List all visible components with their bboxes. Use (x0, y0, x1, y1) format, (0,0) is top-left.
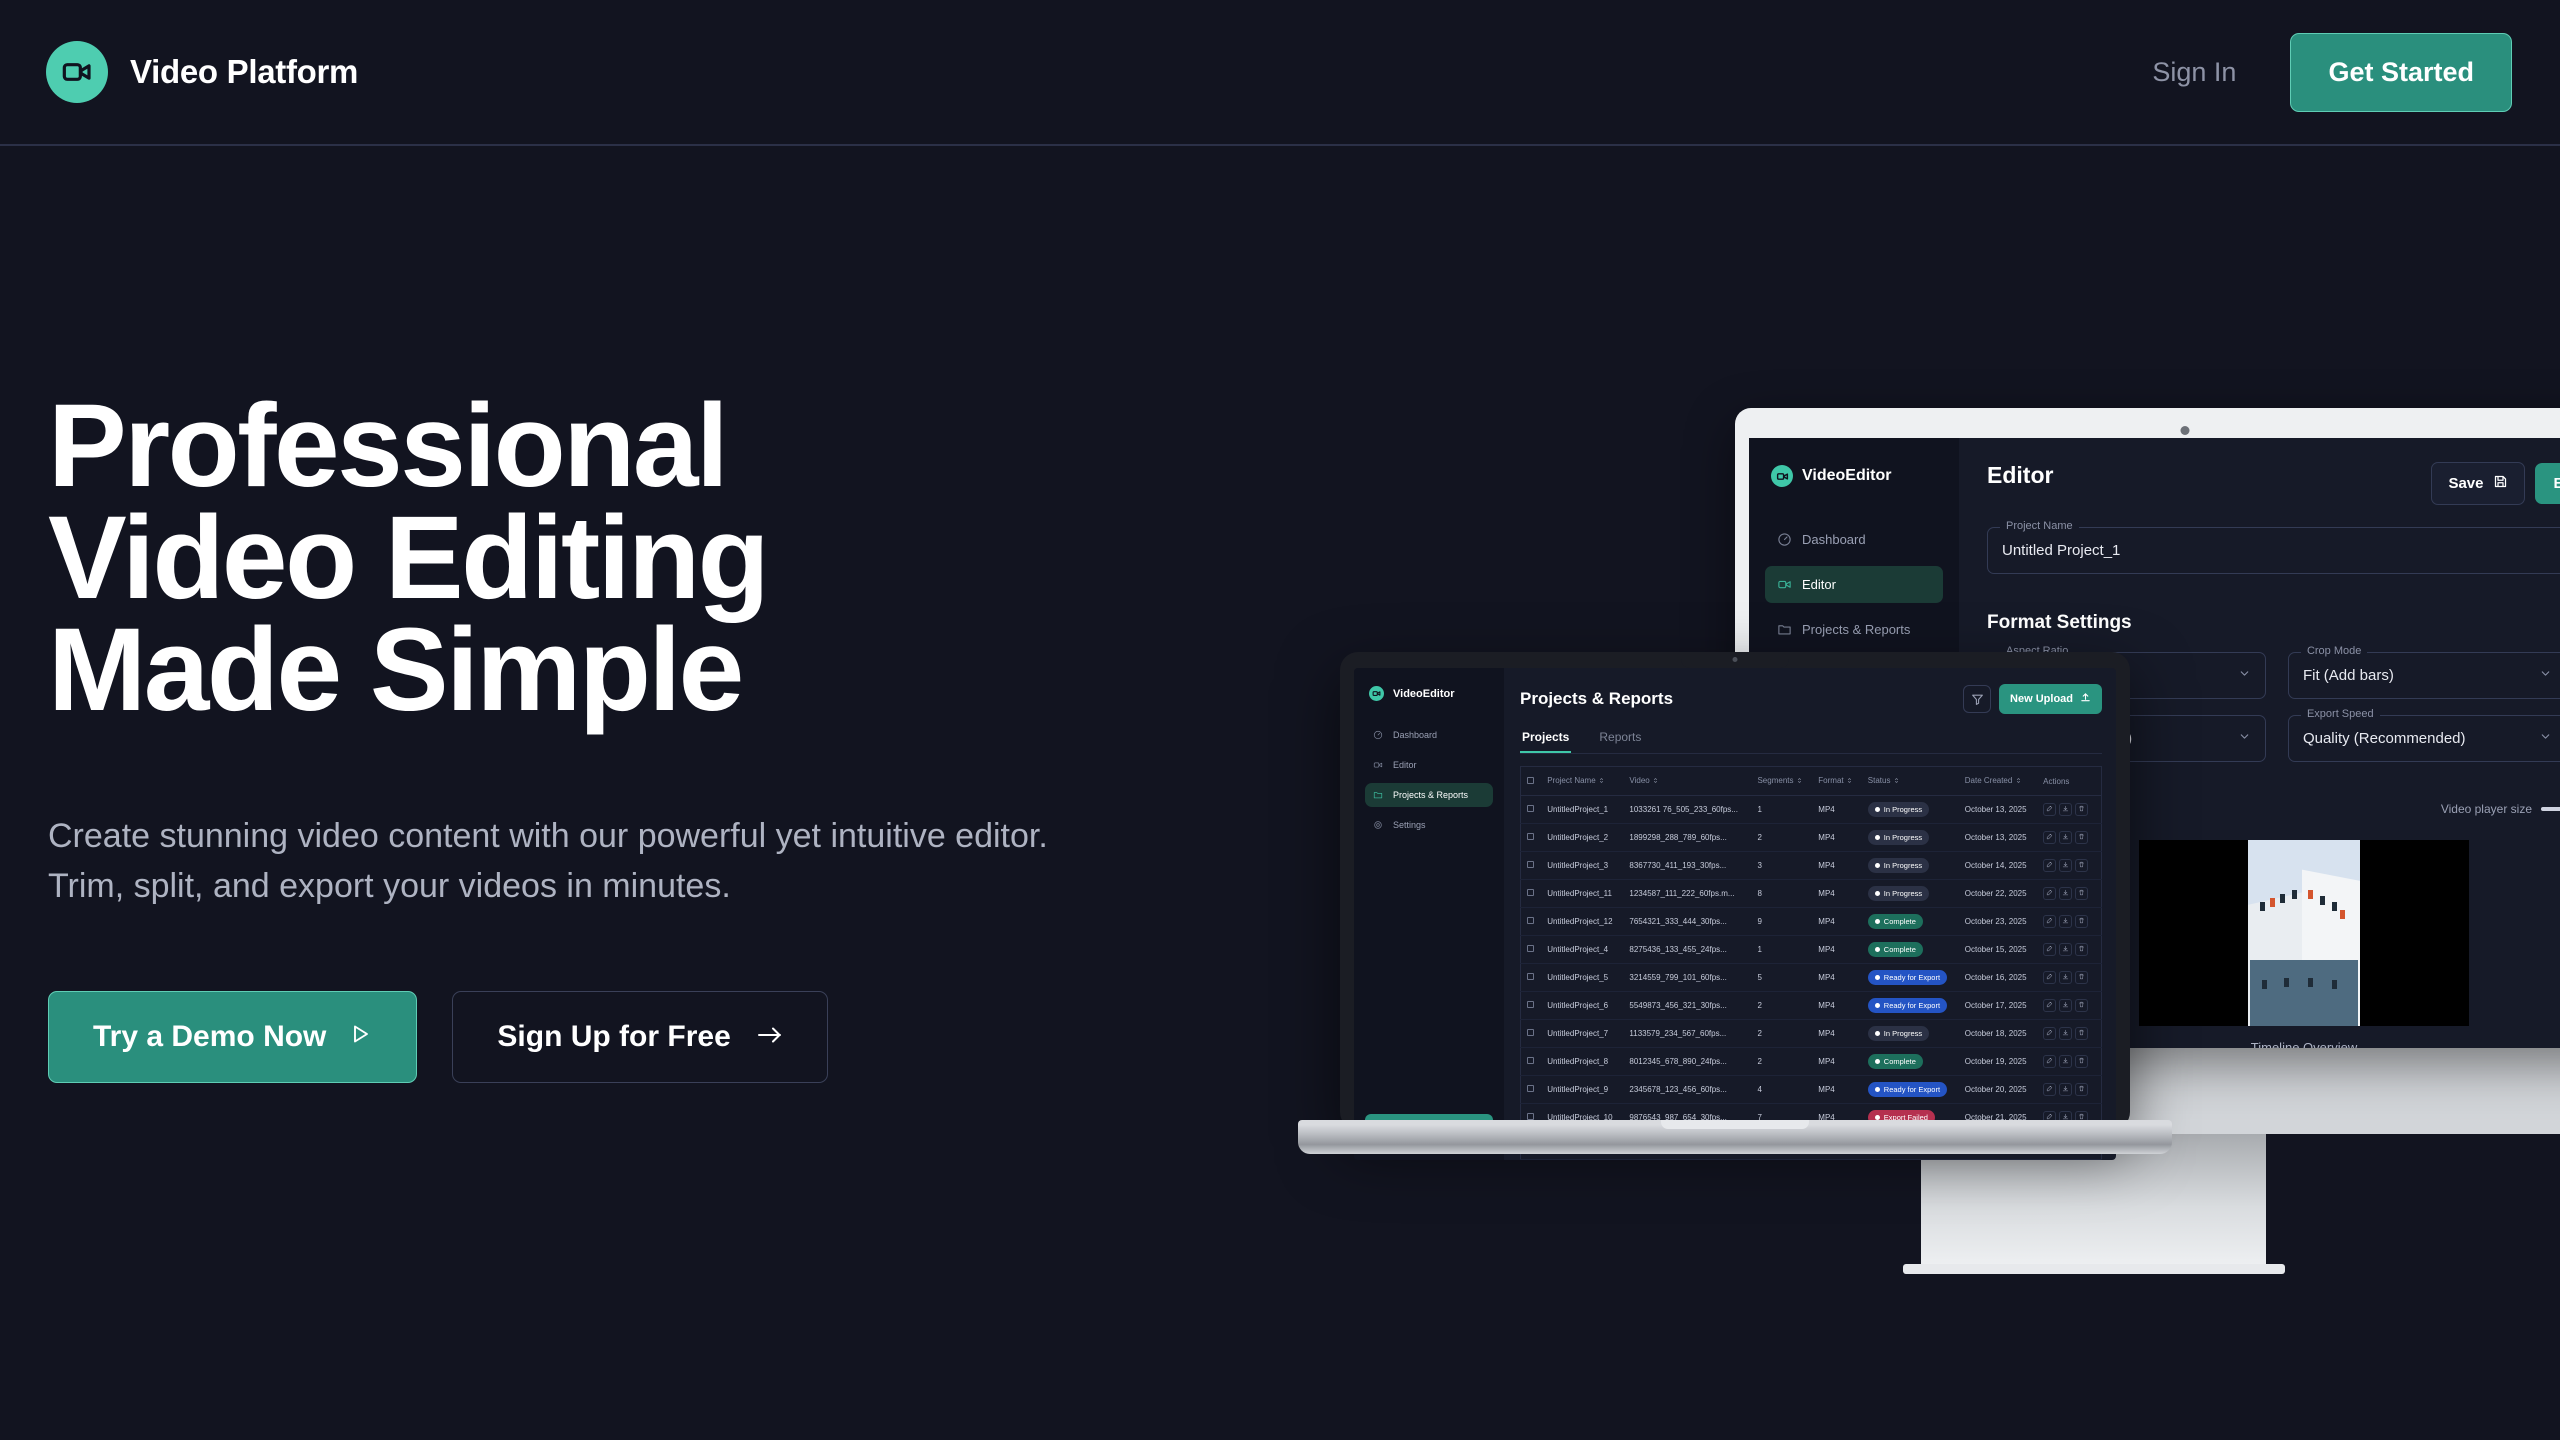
get-started-button[interactable]: Get Started (2290, 33, 2512, 112)
cell-project-name: UntitledProject_7 (1541, 1020, 1623, 1048)
cell-date: October 20, 2025 (1959, 1076, 2037, 1104)
row-checkbox[interactable] (1521, 1076, 1542, 1104)
trash-icon[interactable] (2075, 999, 2088, 1012)
table-row[interactable]: UntitledProject_53214559_799_101_60fps..… (1521, 964, 2102, 992)
sort-icon[interactable] (1652, 777, 1659, 786)
column-header[interactable]: Status (1862, 767, 1959, 796)
cell-segments: 9 (1751, 908, 1812, 936)
download-icon[interactable] (2059, 831, 2072, 844)
status-badge: In Progress (1868, 1026, 1929, 1041)
cell-actions[interactable] (2037, 824, 2101, 852)
cell-segments: 2 (1751, 1020, 1812, 1048)
project-name-field[interactable]: Project Name Untitled Project_1 (1987, 527, 2560, 574)
download-icon[interactable] (2059, 859, 2072, 872)
cell-project-name: UntitledProject_14 (1541, 1160, 1623, 1161)
status-label: In Progress (1884, 805, 1922, 814)
status-label: In Progress (1884, 889, 1922, 898)
status-label: Ready for Export (1884, 1085, 1940, 1094)
webcam-icon (2181, 426, 2190, 435)
projects-nav: DashboardEditorProjects & ReportsSetting… (1365, 723, 1493, 837)
projects-page-title: Projects & Reports (1520, 689, 1673, 709)
table-body: UntitledProject_11033261 76_505_233_60fp… (1521, 796, 2102, 1161)
status-badge: Complete (1868, 914, 1923, 929)
cell-segments: 2 (1751, 824, 1812, 852)
hero-cta-group: Try a Demo Now Sign Up for Free (48, 991, 1198, 1083)
cell-status: Complete (1862, 936, 1959, 964)
edit-icon[interactable] (2043, 887, 2056, 900)
sidebar-item-label: Dashboard (1802, 532, 1866, 547)
video-camera-icon (46, 41, 108, 103)
field-value: Quality (Recommended) (2303, 730, 2466, 747)
status-label: In Progress (1884, 833, 1922, 842)
status-label: Complete (1884, 917, 1916, 926)
status-label: In Progress (1884, 861, 1922, 870)
cell-actions[interactable] (2037, 852, 2101, 880)
row-checkbox[interactable] (1521, 880, 1542, 908)
header-actions: Sign In Get Started (2148, 33, 2512, 112)
status-badge: In Progress (1868, 858, 1929, 873)
cell-video: 5549873_456_321_30fps... (1623, 992, 1751, 1020)
status-label: Complete (1884, 945, 1916, 954)
cell-actions[interactable] (2037, 992, 2101, 1020)
column-header[interactable]: Video (1623, 767, 1751, 796)
table-row[interactable]: UntitledProject_127654321_333_444_30fps.… (1521, 908, 2102, 936)
status-label: Complete (1884, 1057, 1916, 1066)
download-icon[interactable] (2059, 1055, 2072, 1068)
edit-icon[interactable] (2043, 859, 2056, 872)
tab-projects[interactable]: Projects (1520, 730, 1571, 753)
row-checkbox[interactable] (1521, 964, 1542, 992)
cell-project-name: UntitledProject_1 (1541, 796, 1623, 824)
edit-icon[interactable] (2043, 831, 2056, 844)
row-checkbox[interactable] (1521, 1160, 1542, 1161)
column-label: Segments (1757, 776, 1793, 785)
cell-video: 3214559_799_101_60fps... (1623, 964, 1751, 992)
cell-video: 1234587_111_222_60fps.m... (1623, 880, 1751, 908)
play-triangle-icon (348, 1020, 372, 1054)
sidebar-item-label: Dashboard (1393, 730, 1437, 740)
cell-project-name: UntitledProject_12 (1541, 908, 1623, 936)
table-row[interactable]: UntitledProject_11033261 76_505_233_60fp… (1521, 796, 2102, 824)
edit-icon[interactable] (2043, 803, 2056, 816)
edit-icon[interactable] (2043, 999, 2056, 1012)
video-camera-icon (1369, 686, 1384, 701)
trash-icon[interactable] (2075, 971, 2088, 984)
cell-status: In Progress (1862, 824, 1959, 852)
video-camera-icon (1777, 577, 1792, 592)
table-row[interactable]: UntitledProject_65549873_456_321_30fps..… (1521, 992, 2102, 1020)
cell-format: MP4 (1812, 964, 1861, 992)
sign-up-free-button[interactable]: Sign Up for Free (452, 991, 827, 1083)
download-icon[interactable] (2059, 943, 2072, 956)
cell-status: In Progress (1862, 1020, 1959, 1048)
column-label: Video (1629, 776, 1649, 785)
chevron-down-icon[interactable] (2539, 730, 2552, 748)
column-label: Project Name (1547, 776, 1595, 785)
sidebar-item-editor[interactable]: Editor (1365, 753, 1493, 777)
funnel-icon[interactable] (1963, 685, 1991, 713)
folder-icon (1777, 622, 1792, 637)
field-crop-mode[interactable]: Crop ModeFit (Add bars) (2288, 652, 2560, 699)
cell-format: MP4 (1812, 1020, 1861, 1048)
projects-main: Projects & Reports New Upload (1504, 668, 2116, 1160)
cell-date: October 15, 2025 (1959, 936, 2037, 964)
laptop-device: VideoEditor DashboardEditorProjects & Re… (1340, 652, 2130, 1182)
download-icon[interactable] (2059, 887, 2072, 900)
player-size-label: Video player size (2441, 802, 2532, 816)
page-title: Professional Video Editing Made Simple (48, 390, 1198, 726)
chevron-down-icon[interactable] (2238, 730, 2251, 748)
cell-status: In Progress (1862, 796, 1959, 824)
table-header-row: Project Name Video Segments Format Statu… (1521, 767, 2102, 796)
try-demo-label: Try a Demo Now (93, 1020, 326, 1054)
sidebar-item-label: Projects & Reports (1393, 790, 1468, 800)
sign-up-label: Sign Up for Free (497, 1020, 730, 1054)
webcam-icon (1733, 657, 1738, 662)
trash-icon[interactable] (2075, 943, 2088, 956)
field-label: Export Speed (2301, 708, 2380, 720)
project-name-value: Untitled Project_1 (2002, 542, 2120, 559)
projects-app: VideoEditor DashboardEditorProjects & Re… (1354, 668, 2116, 1160)
table-row[interactable]: UntitledProject_142468135_777_888_24fps.… (1521, 1160, 2102, 1161)
laptop-base-notch (1661, 1120, 1809, 1129)
editor-app-logo-label: VideoEditor (1802, 467, 1892, 485)
cell-video: 1899298_288_789_60fps... (1623, 824, 1751, 852)
table-row[interactable]: UntitledProject_48275436_133_455_24fps..… (1521, 936, 2102, 964)
status-badge: Ready for Export (1868, 970, 1947, 985)
trash-icon[interactable] (2075, 831, 2088, 844)
sort-icon[interactable] (1598, 777, 1605, 786)
status-label: Ready for Export (1884, 973, 1940, 982)
row-checkbox[interactable] (1521, 1048, 1542, 1076)
export-button[interactable]: Exp (2535, 463, 2560, 504)
trash-icon[interactable] (2075, 1083, 2088, 1096)
trash-icon[interactable] (2075, 1027, 2088, 1040)
editor-header: Editor Save Exp (1987, 462, 2560, 505)
cell-status: In Progress (1862, 852, 1959, 880)
select-all-checkbox[interactable] (1527, 777, 1534, 784)
projects-header: Projects & Reports New Upload (1520, 684, 2102, 714)
cell-project-name: UntitledProject_2 (1541, 824, 1623, 852)
column-label: Actions (2043, 777, 2069, 786)
row-checkbox[interactable] (1521, 824, 1542, 852)
projects-tabs: ProjectsReports (1520, 730, 2102, 754)
cell-status: Ready for Export (1862, 964, 1959, 992)
sidebar-item-label: Editor (1802, 577, 1836, 592)
status-badge: In Progress (1868, 830, 1929, 845)
cell-segments: 3 (1751, 852, 1812, 880)
player-size-control[interactable]: Video player size (2441, 802, 2560, 816)
field-label: Crop Mode (2301, 645, 2367, 657)
chevron-down-icon[interactable] (2238, 667, 2251, 685)
cell-actions[interactable] (2037, 1076, 2101, 1104)
column-header[interactable]: Format (1812, 767, 1861, 796)
cell-project-name: UntitledProject_6 (1541, 992, 1623, 1020)
arrow-right-icon (757, 1020, 783, 1054)
sidebar-item-editor[interactable]: Editor (1765, 566, 1943, 603)
save-button[interactable]: Save (2431, 462, 2525, 505)
cell-format: MP4 (1812, 824, 1861, 852)
download-icon[interactable] (2059, 971, 2072, 984)
sort-icon[interactable] (1796, 777, 1803, 786)
video-camera-icon (1373, 760, 1383, 770)
cell-status: In Progress (1862, 880, 1959, 908)
editor-app-logo: VideoEditor (1771, 465, 1943, 487)
status-label: In Progress (1884, 1029, 1922, 1038)
cell-date: October 19, 2025 (1959, 1048, 2037, 1076)
upload-icon (2080, 692, 2091, 706)
sidebar-item-dashboard[interactable]: Dashboard (1765, 521, 1943, 558)
trash-icon[interactable] (2075, 1055, 2088, 1068)
cell-video: 1133579_234_567_60fps... (1623, 1020, 1751, 1048)
landing-page: Video Platform Sign In Get Started Profe… (0, 0, 2560, 1440)
cell-video: 7654321_333_444_30fps... (1623, 908, 1751, 936)
cell-format: MP4 (1812, 936, 1861, 964)
edit-icon[interactable] (2043, 943, 2056, 956)
status-badge: Complete (1868, 942, 1923, 957)
cell-date: October 23, 2025 (1959, 908, 2037, 936)
cell-video: 8275436_133_455_24fps... (1623, 936, 1751, 964)
cell-date: October 14, 2025 (1959, 852, 2037, 880)
cell-date: October 17, 2025 (1959, 992, 2037, 1020)
monitor-foot (1903, 1264, 2285, 1274)
cell-actions[interactable] (2037, 1020, 2101, 1048)
video-camera-icon (1771, 465, 1793, 487)
player-size-slider[interactable] (2541, 807, 2560, 811)
cell-date: October 18, 2025 (1959, 1020, 2037, 1048)
cell-format: MP4 (1812, 1048, 1861, 1076)
download-icon[interactable] (2059, 803, 2072, 816)
cell-date: October 13, 2025 (1959, 796, 2037, 824)
trash-icon[interactable] (2075, 859, 2088, 872)
cell-video: 1033261 76_505_233_60fps... (1623, 796, 1751, 824)
download-icon[interactable] (2059, 915, 2072, 928)
cell-format: MP4 (1812, 1160, 1861, 1161)
cell-date: October 16, 2025 (1959, 964, 2037, 992)
download-icon[interactable] (2059, 999, 2072, 1012)
hero-subtitle: Create stunning video content with our p… (48, 812, 1118, 911)
brand-logo[interactable]: Video Platform (46, 41, 358, 103)
cell-format: MP4 (1812, 880, 1861, 908)
cell-actions[interactable] (2037, 1048, 2101, 1076)
chevron-down-icon[interactable] (2539, 667, 2552, 685)
editor-page-title: Editor (1987, 462, 2053, 489)
download-icon[interactable] (2059, 1083, 2072, 1096)
table-row[interactable]: UntitledProject_111234587_111_222_60fps.… (1521, 880, 2102, 908)
column-header[interactable]: Segments (1751, 767, 1812, 796)
column-header[interactable]: Actions (2037, 767, 2101, 796)
cell-segments: 8 (1751, 880, 1812, 908)
sort-icon[interactable] (2015, 777, 2022, 786)
cell-segments: 1 (1751, 796, 1812, 824)
edit-icon[interactable] (2043, 1027, 2056, 1040)
tab-reports[interactable]: Reports (1597, 730, 1643, 753)
video-player-preview[interactable] (2139, 840, 2469, 1026)
status-badge: Ready for Export (1868, 998, 1947, 1013)
save-disk-icon (2493, 474, 2508, 493)
product-mockup: VideoEditor DashboardEditorProjects & Re… (1340, 380, 2560, 1220)
column-label: Format (1818, 776, 1843, 785)
sidebar-item-dashboard[interactable]: Dashboard (1365, 723, 1493, 747)
column-label: Date Created (1965, 776, 2013, 785)
status-badge: Ready for Export (1868, 1082, 1947, 1097)
cell-video: 2345678_123_456_60fps... (1623, 1076, 1751, 1104)
sidebar-item-projects-reports[interactable]: Projects & Reports (1765, 611, 1943, 648)
cell-segments: 11 (1751, 1160, 1812, 1161)
cell-status: In Progress (1862, 1160, 1959, 1161)
status-badge: In Progress (1868, 886, 1929, 901)
laptop-screen: VideoEditor DashboardEditorProjects & Re… (1354, 668, 2116, 1160)
cell-format: MP4 (1812, 796, 1861, 824)
sort-icon[interactable] (1893, 777, 1900, 786)
sidebar-item-projects-reports[interactable]: Projects & Reports (1365, 783, 1493, 807)
row-checkbox[interactable] (1521, 1020, 1542, 1048)
preview-thumbnail (2248, 840, 2360, 1026)
cell-actions[interactable] (2037, 880, 2101, 908)
format-settings-title: Format Settings (1987, 612, 2560, 634)
sidebar-item-label: Projects & Reports (1802, 622, 1910, 637)
row-checkbox[interactable] (1521, 852, 1542, 880)
cell-status: Complete (1862, 908, 1959, 936)
cell-actions[interactable] (2037, 796, 2101, 824)
column-header[interactable]: Project Name (1541, 767, 1623, 796)
cell-format: MP4 (1812, 908, 1861, 936)
cell-actions[interactable] (2037, 908, 2101, 936)
cell-segments: 4 (1751, 1076, 1812, 1104)
cell-actions[interactable] (2037, 936, 2101, 964)
cell-status: Ready for Export (1862, 992, 1959, 1020)
try-demo-button[interactable]: Try a Demo Now (48, 991, 417, 1083)
download-icon[interactable] (2059, 1027, 2072, 1040)
field-value: Fit (Add bars) (2303, 667, 2394, 684)
status-badge: In Progress (1868, 802, 1929, 817)
trash-icon[interactable] (2075, 915, 2088, 928)
column-header[interactable]: Date Created (1959, 767, 2037, 796)
row-checkbox[interactable] (1521, 796, 1542, 824)
table-row[interactable]: UntitledProject_88012345_678_890_24fps..… (1521, 1048, 2102, 1076)
hero-section: Professional Video Editing Made Simple C… (48, 390, 1198, 1083)
sort-icon[interactable] (1846, 777, 1853, 786)
table-row[interactable]: UntitledProject_71133579_234_567_60fps..… (1521, 1020, 2102, 1048)
column-label: Status (1868, 776, 1891, 785)
table-row[interactable]: UntitledProject_92345678_123_456_60fps..… (1521, 1076, 2102, 1104)
gauge-icon (1777, 532, 1792, 547)
cell-format: MP4 (1812, 992, 1861, 1020)
sign-in-button[interactable]: Sign In (2148, 51, 2240, 94)
sidebar-item-label: Settings (1393, 820, 1426, 830)
cell-video: 2468135_777_888_24fps... (1623, 1160, 1751, 1161)
cell-date: October 25, 2025 (1959, 1160, 2037, 1161)
cell-actions[interactable] (2037, 1160, 2101, 1161)
cell-actions[interactable] (2037, 964, 2101, 992)
cell-format: MP4 (1812, 1076, 1861, 1104)
cell-date: October 13, 2025 (1959, 824, 2037, 852)
gear-icon (1373, 820, 1383, 830)
cell-segments: 2 (1751, 1048, 1812, 1076)
cell-project-name: UntitledProject_9 (1541, 1076, 1623, 1104)
projects-sidebar: VideoEditor DashboardEditorProjects & Re… (1354, 668, 1504, 1160)
field-export-speed[interactable]: Export SpeedQuality (Recommended) (2288, 715, 2560, 762)
new-upload-button[interactable]: New Upload (1999, 684, 2102, 714)
sidebar-item-settings[interactable]: Settings (1365, 813, 1493, 837)
save-label: Save (2448, 475, 2483, 492)
projects-app-logo: VideoEditor (1369, 686, 1493, 701)
cell-video: 8367730_411_193_30fps... (1623, 852, 1751, 880)
table-row[interactable]: UntitledProject_38367730_411_193_30fps..… (1521, 852, 2102, 880)
cell-project-name: UntitledProject_3 (1541, 852, 1623, 880)
cell-project-name: UntitledProject_5 (1541, 964, 1623, 992)
cell-segments: 1 (1751, 936, 1812, 964)
cell-segments: 2 (1751, 992, 1812, 1020)
status-badge: Complete (1868, 1054, 1923, 1069)
table-row[interactable]: UntitledProject_21899298_288_789_60fps..… (1521, 824, 2102, 852)
gauge-icon (1373, 730, 1383, 740)
trash-icon[interactable] (2075, 887, 2088, 900)
folder-icon (1373, 790, 1383, 800)
cell-project-name: UntitledProject_11 (1541, 880, 1623, 908)
site-header: Video Platform Sign In Get Started (0, 0, 2560, 146)
cell-segments: 5 (1751, 964, 1812, 992)
cell-video: 8012345_678_890_24fps... (1623, 1048, 1751, 1076)
new-upload-label: New Upload (2010, 693, 2073, 705)
sidebar-item-label: Editor (1393, 760, 1417, 770)
row-checkbox[interactable] (1521, 992, 1542, 1020)
row-checkbox[interactable] (1521, 908, 1542, 936)
project-name-label: Project Name (2000, 520, 2079, 532)
row-checkbox[interactable] (1521, 936, 1542, 964)
cell-status: Complete (1862, 1048, 1959, 1076)
projects-app-logo-label: VideoEditor (1393, 688, 1455, 700)
cell-status: Ready for Export (1862, 1076, 1959, 1104)
cell-date: October 22, 2025 (1959, 880, 2037, 908)
cell-project-name: UntitledProject_8 (1541, 1048, 1623, 1076)
edit-icon[interactable] (2043, 971, 2056, 984)
status-label: Ready for Export (1884, 1001, 1940, 1010)
brand-name: Video Platform (130, 53, 358, 91)
cell-project-name: UntitledProject_4 (1541, 936, 1623, 964)
edit-icon[interactable] (2043, 1055, 2056, 1068)
column-header[interactable] (1521, 767, 1542, 796)
edit-icon[interactable] (2043, 915, 2056, 928)
projects-table: Project Name Video Segments Format Statu… (1520, 766, 2102, 1160)
cell-format: MP4 (1812, 852, 1861, 880)
trash-icon[interactable] (2075, 803, 2088, 816)
edit-icon[interactable] (2043, 1083, 2056, 1096)
